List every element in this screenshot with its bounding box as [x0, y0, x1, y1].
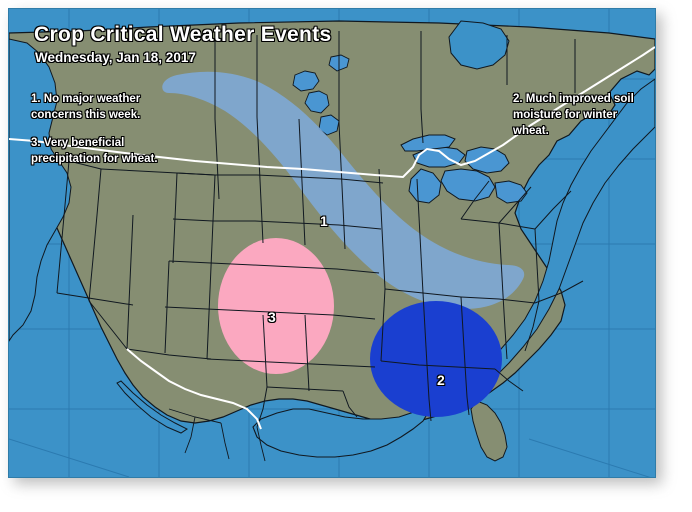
page-title: Crop Critical Weather Events: [34, 23, 331, 47]
annotation-note-1: 1. No major weather concerns this week.: [31, 91, 211, 123]
annotation-note-2: 2. Much improved soil moisture for winte…: [513, 91, 656, 139]
map-marker-1[interactable]: 1: [320, 213, 328, 229]
region-pink-precipitation[interactable]: [218, 238, 334, 374]
map-date: Wednesday, Jan 18, 2017: [35, 50, 196, 65]
weather-map-plate[interactable]: Crop Critical Weather Events Wednesday, …: [8, 8, 656, 478]
annotation-note-3: 3. Very beneficial precipitation for whe…: [31, 135, 221, 167]
map-marker-3[interactable]: 3: [268, 309, 276, 325]
map-graphic: [9, 9, 655, 477]
region-dark-blue-moisture[interactable]: [370, 301, 502, 417]
map-marker-2[interactable]: 2: [437, 372, 445, 388]
weather-map-page: Crop Critical Weather Events Wednesday, …: [0, 0, 692, 512]
